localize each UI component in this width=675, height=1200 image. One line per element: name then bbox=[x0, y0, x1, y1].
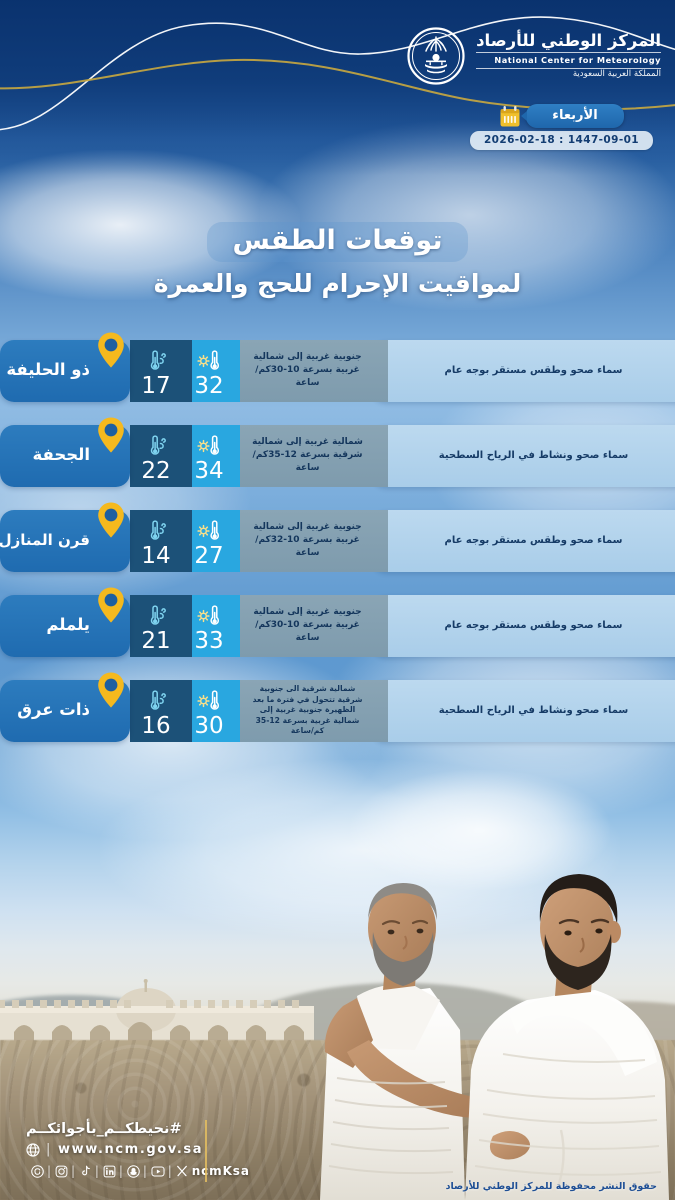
copyright-notice: حقوق النشر محفوظة للمركز الوطني للأرصاد bbox=[446, 1181, 657, 1192]
wind-text: شمالية شرقية الى جنوبية شرقية تتحول في ف… bbox=[249, 684, 366, 737]
min-temp-value: 14 bbox=[141, 545, 170, 568]
city-cell: الجحفة bbox=[0, 425, 130, 487]
min-temp-cell: 17 bbox=[130, 340, 192, 402]
wind-cell: جنوبية غربية إلى شمالية غربية بسرعة 10-3… bbox=[240, 595, 388, 657]
date-label: 2026-02-18 : 1447-09-01 bbox=[470, 131, 653, 150]
min-temp-cell: 16 bbox=[130, 680, 192, 742]
divider: | bbox=[119, 1164, 124, 1178]
max-temp-value: 32 bbox=[194, 375, 223, 398]
location-pin-icon bbox=[96, 416, 126, 454]
divider: | bbox=[47, 1164, 52, 1178]
city-name: يلملم bbox=[46, 616, 90, 634]
hashtag-label: #نحيطكــم_بأجوائكــم bbox=[26, 1121, 250, 1137]
city-cell: يلملم bbox=[0, 595, 130, 657]
description-cell: سماء صحو وطقس مستقر بوجه عام bbox=[372, 510, 675, 572]
sun-thermometer-icon bbox=[196, 689, 222, 713]
x-icon[interactable] bbox=[176, 1165, 188, 1177]
wind-text: جنوبية غربية إلى شمالية غربية بسرعة 10-3… bbox=[249, 351, 366, 390]
wind-cell: جنوبية غربية إلى شمالية غربية بسرعة 10-3… bbox=[240, 340, 388, 402]
wind-text: شمالية غربية إلى شمالية شرقية بسرعة 12-3… bbox=[249, 436, 366, 475]
wind-text: جنوبية غربية إلى شمالية غربية بسرعة 10-3… bbox=[249, 521, 366, 560]
table-row: يلملم 21 bbox=[0, 595, 675, 657]
description-text: سماء صحو وطقس مستقر بوجه عام bbox=[445, 364, 623, 378]
pilgrim-right bbox=[465, 874, 669, 1200]
max-temp-value: 33 bbox=[194, 630, 223, 653]
description-cell: سماء صحو ونشاط في الرياح السطحية bbox=[372, 680, 675, 742]
location-pin-icon bbox=[96, 501, 126, 539]
description-text: سماء صحو ونشاط في الرياح السطحية bbox=[439, 704, 628, 718]
min-temp-value: 16 bbox=[141, 715, 170, 738]
cloud-thermometer-icon bbox=[143, 434, 169, 458]
wind-cell: شمالية غربية إلى شمالية شرقية بسرعة 12-3… bbox=[240, 425, 388, 487]
pilgrims-photo bbox=[265, 840, 675, 1200]
table-row: ذو الحليفة 17 bbox=[0, 340, 675, 402]
date-badge: الأربعاء 2026-02-18 : 1447-09-01 bbox=[470, 104, 653, 150]
cloud-thermometer-icon bbox=[143, 349, 169, 373]
title-main: توقعات الطقس bbox=[207, 222, 469, 262]
city-name: ذو الحليفة bbox=[6, 361, 90, 379]
logo-subtitle-arabic: المملكة العربية السعودية bbox=[476, 70, 661, 80]
website-row[interactable]: | www.ncm.gov.sa bbox=[26, 1142, 250, 1157]
min-temp-value: 22 bbox=[141, 460, 170, 483]
linkedin-icon[interactable] bbox=[103, 1165, 116, 1178]
description-cell: سماء صحو وطقس مستقر بوجه عام bbox=[372, 340, 675, 402]
divider: | bbox=[95, 1164, 100, 1178]
website-url: www.ncm.gov.sa bbox=[58, 1142, 203, 1157]
logo-title-english: National Center for Meteorology bbox=[476, 52, 661, 68]
social-row[interactable]: | | | | bbox=[26, 1164, 250, 1178]
min-temp-cell: 21 bbox=[130, 595, 192, 657]
weather-infographic-poster: المركز الوطني للأرصاد National Center fo… bbox=[0, 0, 675, 1200]
logo-title-arabic: المركز الوطني للأرصاد bbox=[476, 32, 661, 50]
tiktok-icon[interactable] bbox=[79, 1165, 92, 1178]
table-row: ذات عرق 16 bbox=[0, 680, 675, 742]
max-temp-value: 30 bbox=[194, 715, 223, 738]
ncm-emblem-icon bbox=[406, 26, 466, 86]
youtube-icon[interactable] bbox=[151, 1165, 165, 1178]
table-row: قرن المنازل 14 bbox=[0, 510, 675, 572]
cloud-thermometer-icon bbox=[143, 519, 169, 543]
sun-thermometer-icon bbox=[196, 349, 222, 373]
min-temp-value: 17 bbox=[141, 375, 170, 398]
max-temp-value: 34 bbox=[194, 460, 223, 483]
location-pin-icon bbox=[96, 331, 126, 369]
cloud-thermometer-icon bbox=[143, 604, 169, 628]
title-subtitle: لمواقيت الإحرام للحج والعمرة bbox=[0, 269, 675, 298]
calendar-icon bbox=[499, 105, 521, 128]
sun-thermometer-icon bbox=[196, 434, 222, 458]
footer-divider-line bbox=[205, 1120, 207, 1182]
wind-cell: شمالية شرقية الى جنوبية شرقية تتحول في ف… bbox=[240, 680, 388, 742]
divider: | bbox=[168, 1164, 173, 1178]
divider: | bbox=[46, 1142, 52, 1157]
instagram-icon[interactable] bbox=[55, 1165, 68, 1178]
description-cell: سماء صحو وطقس مستقر بوجه عام bbox=[372, 595, 675, 657]
day-row: الأربعاء bbox=[499, 104, 623, 128]
sun-thermometer-icon bbox=[196, 519, 222, 543]
city-name: قرن المنازل bbox=[0, 532, 90, 549]
description-text: سماء صحو وطقس مستقر بوجه عام bbox=[445, 534, 623, 548]
city-name: الجحفة bbox=[32, 446, 90, 464]
min-temp-value: 21 bbox=[141, 630, 170, 653]
social-icon-group[interactable]: | | | | bbox=[31, 1164, 188, 1178]
wind-cell: جنوبية غربية إلى شمالية غربية بسرعة 10-3… bbox=[240, 510, 388, 572]
city-name: ذات عرق bbox=[17, 701, 90, 719]
wind-text: جنوبية غربية إلى شمالية غربية بسرعة 10-3… bbox=[249, 606, 366, 645]
location-pin-icon bbox=[96, 586, 126, 624]
description-text: سماء صحو ونشاط في الرياح السطحية bbox=[439, 449, 628, 463]
table-row: الجحفة 22 bbox=[0, 425, 675, 487]
divider: | bbox=[71, 1164, 76, 1178]
day-label: الأربعاء bbox=[526, 104, 623, 128]
city-cell: ذات عرق bbox=[0, 680, 130, 742]
logo-text-block: المركز الوطني للأرصاد National Center fo… bbox=[476, 32, 661, 79]
page-title: توقعات الطقس لمواقيت الإحرام للحج والعمر… bbox=[0, 222, 675, 298]
social-handle: ncmKsa bbox=[192, 1164, 250, 1178]
cloud-thermometer-icon bbox=[143, 689, 169, 713]
city-cell: قرن المنازل bbox=[0, 510, 130, 572]
threads-icon[interactable] bbox=[31, 1165, 44, 1178]
sun-thermometer-icon bbox=[196, 604, 222, 628]
forecast-table: ذو الحليفة 17 bbox=[0, 340, 675, 765]
globe-icon bbox=[26, 1143, 40, 1157]
snapchat-icon[interactable] bbox=[127, 1165, 140, 1178]
city-cell: ذو الحليفة bbox=[0, 340, 130, 402]
footer-branding: #نحيطكــم_بأجوائكــم | www.ncm.gov.sa | bbox=[26, 1121, 250, 1178]
min-temp-cell: 14 bbox=[130, 510, 192, 572]
description-text: سماء صحو وطقس مستقر بوجه عام bbox=[445, 619, 623, 633]
description-cell: سماء صحو ونشاط في الرياح السطحية bbox=[372, 425, 675, 487]
min-temp-cell: 22 bbox=[130, 425, 192, 487]
location-pin-icon bbox=[96, 671, 126, 709]
divider: | bbox=[143, 1164, 148, 1178]
ncm-logo: المركز الوطني للأرصاد National Center fo… bbox=[406, 26, 661, 86]
max-temp-value: 27 bbox=[194, 545, 223, 568]
